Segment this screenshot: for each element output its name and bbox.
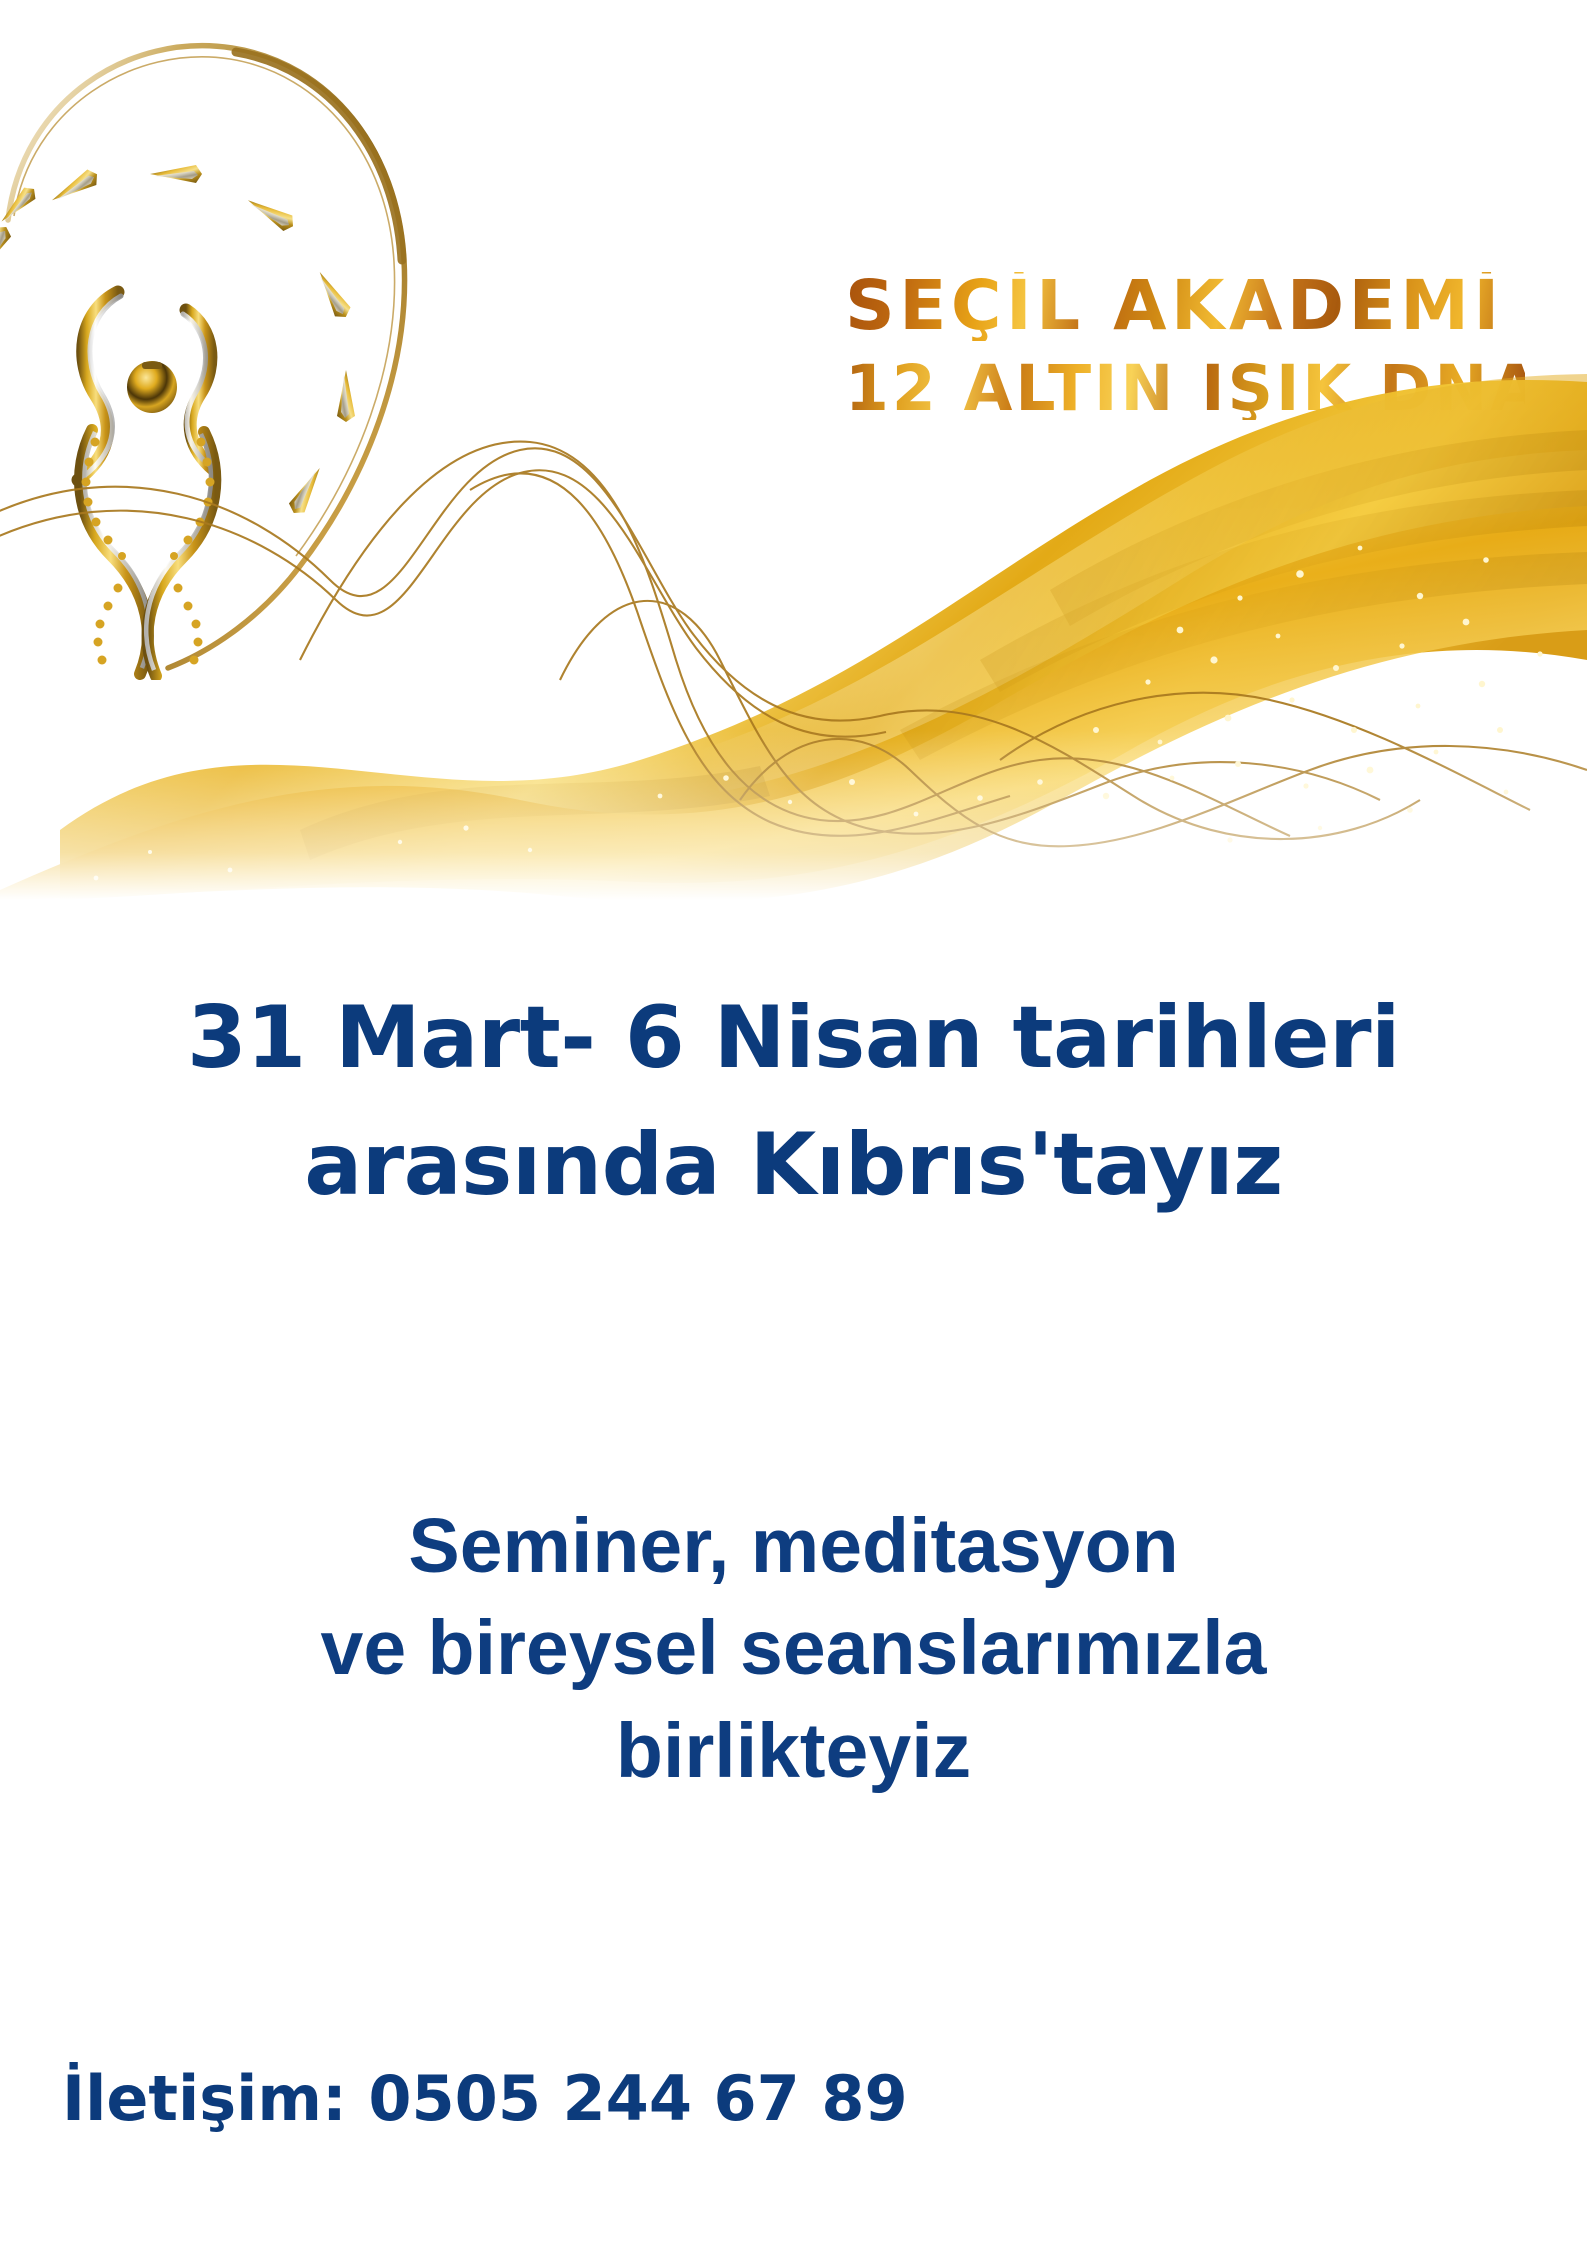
golden-ribbon-wave [0, 330, 1587, 900]
poster-canvas: SEÇİL AKADEMİ 12 ALTIN IŞIK DNA [0, 0, 1587, 2245]
page-title: 31 Mart- 6 Nisan tarihleri arasında Kıbr… [0, 975, 1587, 1230]
body-copy-line-1: Seminer, meditasyon [0, 1495, 1587, 1597]
header-band: SEÇİL AKADEMİ 12 ALTIN IŞIK DNA [0, 0, 1587, 900]
headline-line-2: arasında Kıbrıs'tayız [0, 1102, 1587, 1229]
body-copy-line-2: ve bireysel seanslarımızla [0, 1597, 1587, 1699]
headline-line-1: 31 Mart- 6 Nisan tarihleri [0, 975, 1587, 1102]
body-copy-line-3: birlikteyiz [0, 1700, 1587, 1802]
body-copy: Seminer, meditasyon ve bireysel seanslar… [0, 1495, 1587, 1802]
contact-line: İletişim: 0505 244 67 89 [62, 2062, 908, 2136]
